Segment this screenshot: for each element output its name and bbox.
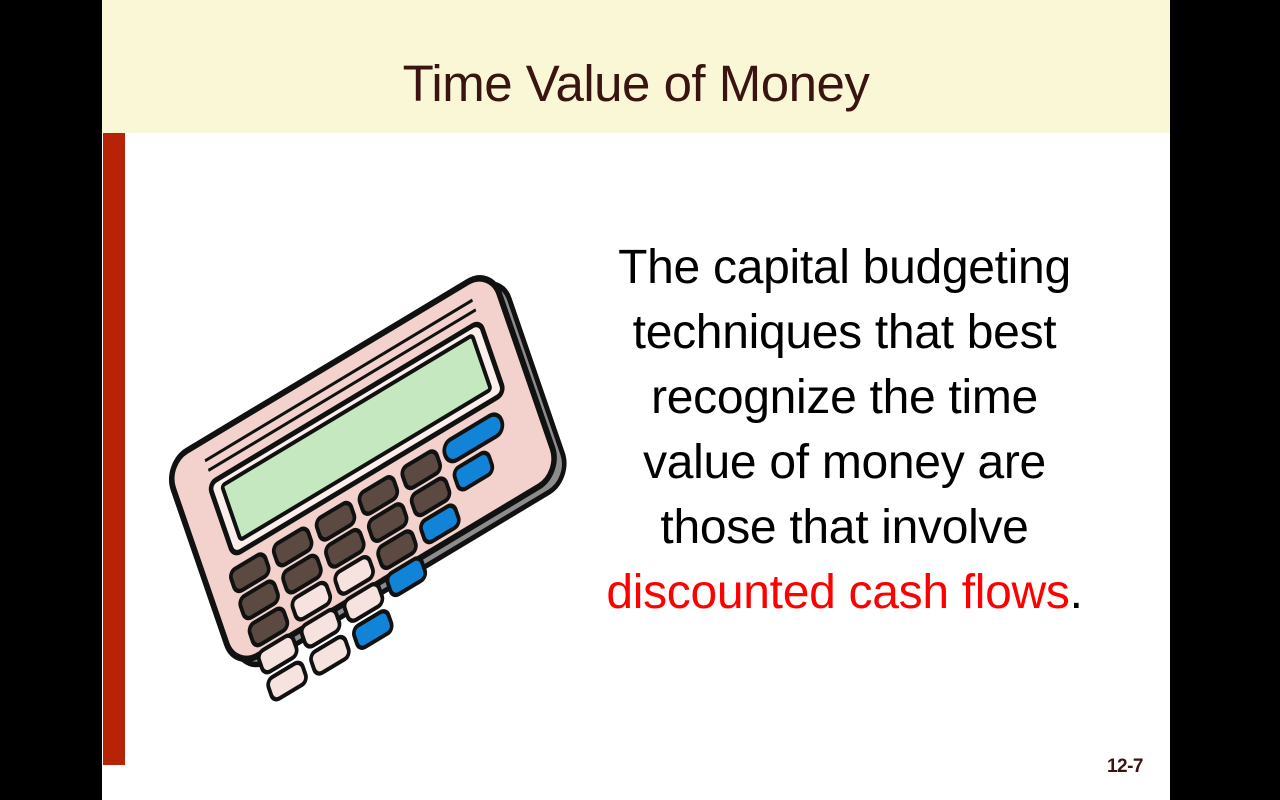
body-line: techniques that best — [572, 300, 1117, 365]
title-band: Time Value of Money — [102, 0, 1170, 133]
body-line: value of money are — [572, 430, 1117, 495]
body-line-emphasis: discounted cash flows. — [572, 560, 1117, 625]
emphasis-text: discounted cash flows — [606, 566, 1069, 619]
body-line: The capital budgeting — [572, 235, 1117, 300]
emphasis-period: . — [1070, 566, 1083, 619]
page-title: Time Value of Money — [102, 58, 1170, 109]
body-text-block: The capital budgeting techniques that be… — [572, 235, 1117, 625]
slide-content-area: The capital budgeting techniques that be… — [102, 133, 1170, 800]
page-number: 12-7 — [1107, 756, 1143, 778]
calculator-illustration — [122, 308, 622, 658]
body-line: those that involve — [572, 495, 1117, 560]
body-line: recognize the time — [572, 365, 1117, 430]
slide-root: Time Value of Money — [0, 0, 1280, 800]
